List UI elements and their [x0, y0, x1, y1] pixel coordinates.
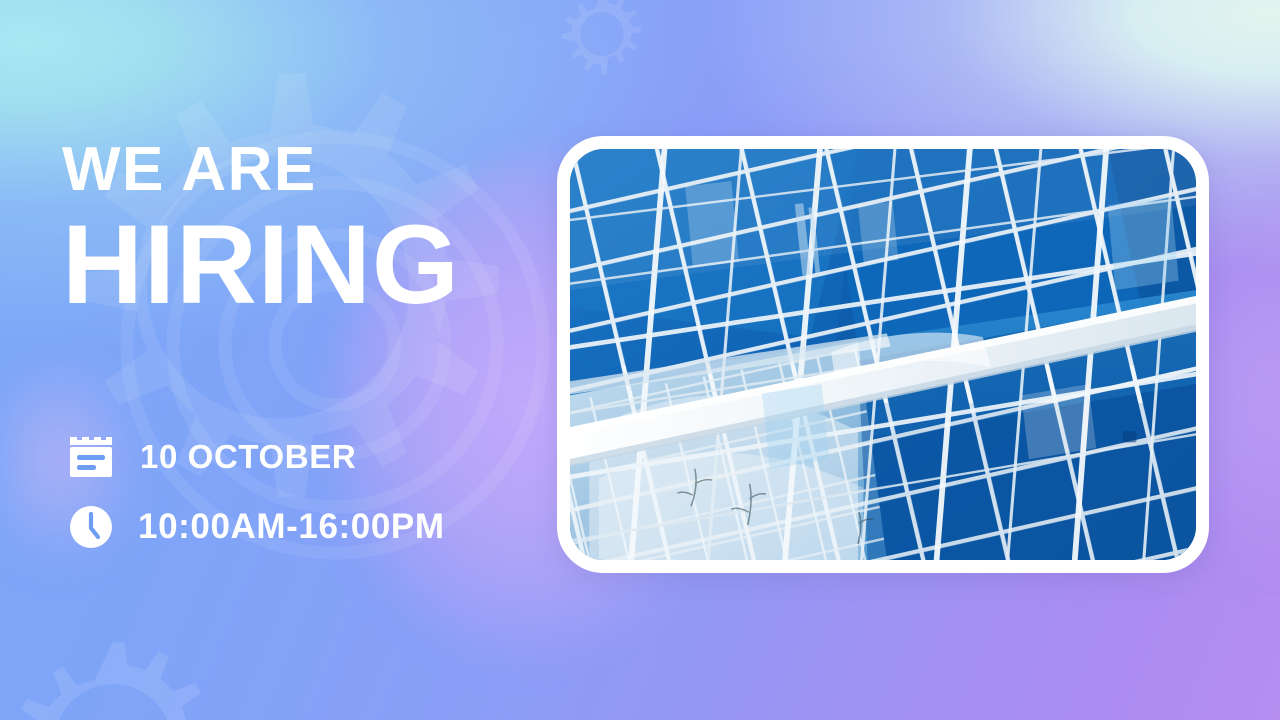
detail-row-date: 10 OCTOBER: [68, 428, 445, 486]
headline-block: WE ARE HIRING: [62, 140, 582, 317]
clock-icon: [68, 504, 120, 550]
event-date-text: 10 OCTOBER: [140, 438, 356, 476]
building-photo: [570, 149, 1196, 560]
page-title-line1: WE ARE: [62, 140, 582, 200]
event-time-text: 10:00AM-16:00PM: [138, 507, 445, 547]
gear-icon-small-top-decoration: [560, 0, 644, 76]
photo-card: [557, 136, 1209, 573]
hiring-poster: WE ARE HIRING 10 OCT: [0, 0, 1280, 720]
event-details-list: 10 OCTOBER 10:00AM-16:00PM: [68, 428, 445, 568]
calendar-icon: [68, 435, 120, 479]
gear-icon-bottom-left-decoration: [8, 638, 218, 720]
building-facade-illustration: [570, 149, 1196, 560]
page-title-line2: HIRING: [62, 212, 582, 317]
detail-row-time: 10:00AM-16:00PM: [68, 498, 445, 556]
